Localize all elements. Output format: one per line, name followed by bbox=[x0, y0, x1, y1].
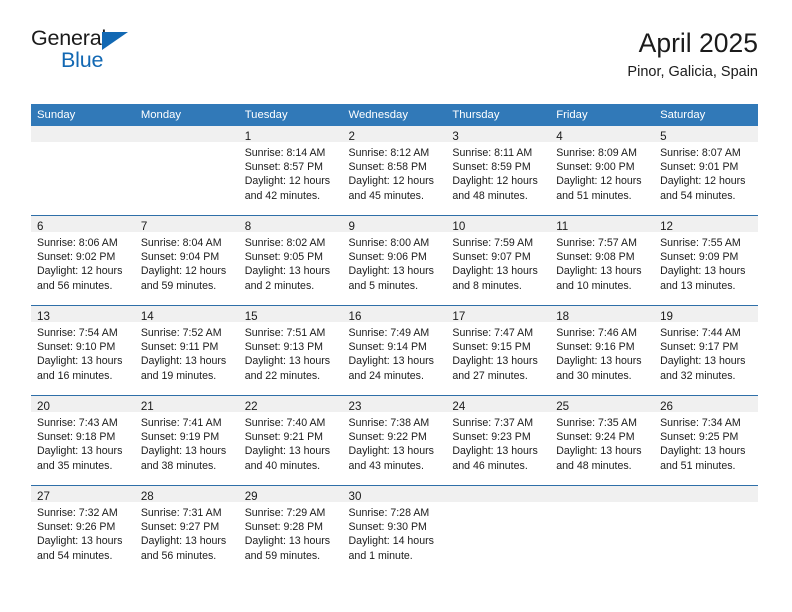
day-detail-line: and 45 minutes. bbox=[349, 189, 442, 203]
day-detail-line: Daylight: 12 hours bbox=[141, 264, 234, 278]
day-number-band: 17 bbox=[446, 306, 550, 322]
calendar-day-cell-empty bbox=[550, 486, 654, 576]
day-detail-line: and 32 minutes. bbox=[660, 369, 753, 383]
calendar-day-cell[interactable]: 8Sunrise: 8:02 AMSunset: 9:05 PMDaylight… bbox=[239, 216, 343, 306]
day-number-band: 23 bbox=[343, 396, 447, 412]
day-number: 9 bbox=[349, 220, 355, 233]
day-number: 22 bbox=[245, 400, 258, 413]
title-block: April 2025 Pinor, Galicia, Spain bbox=[627, 28, 758, 82]
day-detail-line: Sunrise: 7:44 AM bbox=[660, 326, 753, 340]
page-header: General Blue April 2025 Pinor, Galicia, … bbox=[31, 28, 758, 98]
day-detail-line: Sunrise: 8:14 AM bbox=[245, 146, 338, 160]
day-detail-line: and 35 minutes. bbox=[37, 459, 130, 473]
day-number: 20 bbox=[37, 400, 50, 413]
day-detail-block: Sunrise: 7:59 AMSunset: 9:07 PMDaylight:… bbox=[446, 232, 550, 293]
day-number-band: 26 bbox=[654, 396, 758, 412]
day-detail-line: and 56 minutes. bbox=[141, 549, 234, 563]
day-number: 19 bbox=[660, 310, 673, 323]
day-detail-line: and 51 minutes. bbox=[556, 189, 649, 203]
day-detail-line: Sunrise: 8:09 AM bbox=[556, 146, 649, 160]
day-detail-line: Sunset: 9:00 PM bbox=[556, 160, 649, 174]
calendar-day-cell-empty bbox=[31, 126, 135, 216]
day-detail-line: Daylight: 13 hours bbox=[556, 264, 649, 278]
day-number-band: 28 bbox=[135, 486, 239, 502]
day-number-band: 4 bbox=[550, 126, 654, 142]
day-detail-line: Sunset: 9:07 PM bbox=[452, 250, 545, 264]
day-number-band: 11 bbox=[550, 216, 654, 232]
day-detail-line: and 59 minutes. bbox=[245, 549, 338, 563]
day-number: 17 bbox=[452, 310, 465, 323]
calendar-day-cell[interactable]: 20Sunrise: 7:43 AMSunset: 9:18 PMDayligh… bbox=[31, 396, 135, 486]
day-detail-line: Sunset: 8:57 PM bbox=[245, 160, 338, 174]
day-detail-line: and 56 minutes. bbox=[37, 279, 130, 293]
day-detail-line: Sunset: 9:17 PM bbox=[660, 340, 753, 354]
day-detail-line: Daylight: 13 hours bbox=[245, 264, 338, 278]
calendar-week-row: 6Sunrise: 8:06 AMSunset: 9:02 PMDaylight… bbox=[31, 216, 758, 306]
day-number-band: 8 bbox=[239, 216, 343, 232]
calendar-header-row: SundayMondayTuesdayWednesdayThursdayFrid… bbox=[31, 104, 758, 126]
day-detail-line: Daylight: 13 hours bbox=[556, 354, 649, 368]
page-subtitle-location: Pinor, Galicia, Spain bbox=[627, 64, 758, 81]
day-number-band: 20 bbox=[31, 396, 135, 412]
day-detail-line: Daylight: 13 hours bbox=[452, 264, 545, 278]
day-number: 11 bbox=[556, 220, 568, 233]
day-detail-line: Sunset: 9:06 PM bbox=[349, 250, 442, 264]
day-detail-line: and 5 minutes. bbox=[349, 279, 442, 293]
day-detail-line: Sunset: 9:04 PM bbox=[141, 250, 234, 264]
day-detail-block: Sunrise: 8:07 AMSunset: 9:01 PMDaylight:… bbox=[654, 142, 758, 203]
day-detail-line: and 43 minutes. bbox=[349, 459, 442, 473]
page-title: April 2025 bbox=[627, 28, 758, 59]
day-number-band: 14 bbox=[135, 306, 239, 322]
day-detail-line: Sunrise: 7:41 AM bbox=[141, 416, 234, 430]
day-detail-line: and 10 minutes. bbox=[556, 279, 649, 293]
calendar-day-cell[interactable]: 12Sunrise: 7:55 AMSunset: 9:09 PMDayligh… bbox=[654, 216, 758, 306]
day-number-band bbox=[446, 486, 550, 502]
day-number: 16 bbox=[349, 310, 362, 323]
day-number-band: 27 bbox=[31, 486, 135, 502]
day-detail-block: Sunrise: 7:31 AMSunset: 9:27 PMDaylight:… bbox=[135, 502, 239, 563]
day-detail-line: Sunset: 9:14 PM bbox=[349, 340, 442, 354]
day-detail-block: Sunrise: 7:54 AMSunset: 9:10 PMDaylight:… bbox=[31, 322, 135, 383]
weekday-header-sunday: Sunday bbox=[31, 104, 135, 126]
day-detail-line: Daylight: 13 hours bbox=[37, 444, 130, 458]
day-detail-block: Sunrise: 7:35 AMSunset: 9:24 PMDaylight:… bbox=[550, 412, 654, 473]
day-detail-line: Sunrise: 8:12 AM bbox=[349, 146, 442, 160]
calendar-week-row: 1Sunrise: 8:14 AMSunset: 8:57 PMDaylight… bbox=[31, 126, 758, 216]
weekday-header-wednesday: Wednesday bbox=[343, 104, 447, 126]
day-detail-line: and 48 minutes. bbox=[452, 189, 545, 203]
day-detail-block: Sunrise: 8:14 AMSunset: 8:57 PMDaylight:… bbox=[239, 142, 343, 203]
day-detail-line: Sunrise: 8:04 AM bbox=[141, 236, 234, 250]
general-blue-logo[interactable]: General Blue bbox=[31, 28, 231, 84]
day-detail-line: Sunrise: 7:37 AM bbox=[452, 416, 545, 430]
day-number: 30 bbox=[349, 490, 362, 503]
day-detail-block: Sunrise: 8:06 AMSunset: 9:02 PMDaylight:… bbox=[31, 232, 135, 293]
day-number: 7 bbox=[141, 220, 147, 233]
day-detail-line: Sunrise: 7:29 AM bbox=[245, 506, 338, 520]
day-detail-line: and 8 minutes. bbox=[452, 279, 545, 293]
day-detail-block: Sunrise: 8:04 AMSunset: 9:04 PMDaylight:… bbox=[135, 232, 239, 293]
day-detail-block: Sunrise: 7:46 AMSunset: 9:16 PMDaylight:… bbox=[550, 322, 654, 383]
day-detail-block: Sunrise: 7:57 AMSunset: 9:08 PMDaylight:… bbox=[550, 232, 654, 293]
day-detail-line: Sunrise: 8:11 AM bbox=[452, 146, 545, 160]
day-detail-block: Sunrise: 7:55 AMSunset: 9:09 PMDaylight:… bbox=[654, 232, 758, 293]
day-detail-line: Daylight: 13 hours bbox=[245, 444, 338, 458]
day-number: 27 bbox=[37, 490, 50, 503]
day-detail-line: Sunset: 9:18 PM bbox=[37, 430, 130, 444]
calendar-day-cell[interactable]: 27Sunrise: 7:32 AMSunset: 9:26 PMDayligh… bbox=[31, 486, 135, 576]
day-detail-line: Sunset: 9:08 PM bbox=[556, 250, 649, 264]
day-detail-line: and 19 minutes. bbox=[141, 369, 234, 383]
calendar-day-cell-empty bbox=[135, 126, 239, 216]
day-number-band: 10 bbox=[446, 216, 550, 232]
calendar-day-cell[interactable]: 5Sunrise: 8:07 AMSunset: 9:01 PMDaylight… bbox=[654, 126, 758, 216]
day-detail-line: and 51 minutes. bbox=[660, 459, 753, 473]
calendar-day-cell[interactable]: 2Sunrise: 8:12 AMSunset: 8:58 PMDaylight… bbox=[343, 126, 447, 216]
day-number: 1 bbox=[245, 130, 251, 143]
day-detail-block: Sunrise: 7:32 AMSunset: 9:26 PMDaylight:… bbox=[31, 502, 135, 563]
day-number: 4 bbox=[556, 130, 562, 143]
calendar-day-cell-empty bbox=[654, 486, 758, 576]
day-detail-line: and 54 minutes. bbox=[37, 549, 130, 563]
day-number: 28 bbox=[141, 490, 154, 503]
day-detail-line: and 54 minutes. bbox=[660, 189, 753, 203]
day-number-band: 12 bbox=[654, 216, 758, 232]
calendar-day-cell[interactable]: 15Sunrise: 7:51 AMSunset: 9:13 PMDayligh… bbox=[239, 306, 343, 396]
day-detail-line: Sunset: 9:23 PM bbox=[452, 430, 545, 444]
day-number-band: 1 bbox=[239, 126, 343, 142]
day-detail-line: Sunset: 9:22 PM bbox=[349, 430, 442, 444]
day-detail-line: Sunset: 9:28 PM bbox=[245, 520, 338, 534]
calendar-day-cell[interactable]: 23Sunrise: 7:38 AMSunset: 9:22 PMDayligh… bbox=[343, 396, 447, 486]
day-detail-line: Sunrise: 8:07 AM bbox=[660, 146, 753, 160]
day-detail-line: Sunrise: 7:40 AM bbox=[245, 416, 338, 430]
day-number: 15 bbox=[245, 310, 258, 323]
day-detail-line: Daylight: 13 hours bbox=[660, 264, 753, 278]
day-detail-block: Sunrise: 8:12 AMSunset: 8:58 PMDaylight:… bbox=[343, 142, 447, 203]
calendar-day-cell[interactable]: 14Sunrise: 7:52 AMSunset: 9:11 PMDayligh… bbox=[135, 306, 239, 396]
day-detail-block: Sunrise: 7:44 AMSunset: 9:17 PMDaylight:… bbox=[654, 322, 758, 383]
day-detail-line: Sunset: 8:59 PM bbox=[452, 160, 545, 174]
day-detail-line: Sunrise: 8:06 AM bbox=[37, 236, 130, 250]
day-detail-line: Sunrise: 7:55 AM bbox=[660, 236, 753, 250]
day-detail-line: Daylight: 13 hours bbox=[37, 534, 130, 548]
day-detail-line: Sunrise: 7:51 AM bbox=[245, 326, 338, 340]
day-number: 14 bbox=[141, 310, 154, 323]
day-detail-block: Sunrise: 7:47 AMSunset: 9:15 PMDaylight:… bbox=[446, 322, 550, 383]
day-number-band: 6 bbox=[31, 216, 135, 232]
day-detail-line: and 46 minutes. bbox=[452, 459, 545, 473]
day-detail-line: and 30 minutes. bbox=[556, 369, 649, 383]
day-detail-block: Sunrise: 7:37 AMSunset: 9:23 PMDaylight:… bbox=[446, 412, 550, 473]
day-detail-block: Sunrise: 8:00 AMSunset: 9:06 PMDaylight:… bbox=[343, 232, 447, 293]
calendar-page: General Blue April 2025 Pinor, Galicia, … bbox=[0, 0, 792, 612]
day-detail-line: Sunrise: 7:52 AM bbox=[141, 326, 234, 340]
day-number: 10 bbox=[452, 220, 465, 233]
day-number-band bbox=[654, 486, 758, 502]
day-detail-line: Daylight: 13 hours bbox=[245, 354, 338, 368]
weekday-header-monday: Monday bbox=[135, 104, 239, 126]
day-detail-line: Daylight: 13 hours bbox=[141, 354, 234, 368]
day-detail-line: Sunrise: 7:31 AM bbox=[141, 506, 234, 520]
day-detail-line: and 48 minutes. bbox=[556, 459, 649, 473]
day-detail-line: Daylight: 13 hours bbox=[349, 444, 442, 458]
day-number-band bbox=[135, 126, 239, 142]
day-detail-line: Daylight: 13 hours bbox=[349, 354, 442, 368]
day-detail-line: and 40 minutes. bbox=[245, 459, 338, 473]
calendar-day-cell[interactable]: 16Sunrise: 7:49 AMSunset: 9:14 PMDayligh… bbox=[343, 306, 447, 396]
day-detail-line: Sunset: 8:58 PM bbox=[349, 160, 442, 174]
day-number: 3 bbox=[452, 130, 458, 143]
day-number-band: 24 bbox=[446, 396, 550, 412]
day-detail-line: Sunrise: 8:02 AM bbox=[245, 236, 338, 250]
day-detail-line: and 22 minutes. bbox=[245, 369, 338, 383]
day-detail-line: Daylight: 13 hours bbox=[245, 534, 338, 548]
day-number-band: 16 bbox=[343, 306, 447, 322]
day-number-band: 29 bbox=[239, 486, 343, 502]
day-detail-line: Sunset: 9:05 PM bbox=[245, 250, 338, 264]
calendar-day-cell[interactable]: 10Sunrise: 7:59 AMSunset: 9:07 PMDayligh… bbox=[446, 216, 550, 306]
day-detail-line: Daylight: 12 hours bbox=[349, 174, 442, 188]
calendar-day-cell[interactable]: 30Sunrise: 7:28 AMSunset: 9:30 PMDayligh… bbox=[343, 486, 447, 576]
day-detail-line: Sunset: 9:13 PM bbox=[245, 340, 338, 354]
day-detail-line: Daylight: 13 hours bbox=[141, 444, 234, 458]
calendar-body: 1Sunrise: 8:14 AMSunset: 8:57 PMDaylight… bbox=[31, 126, 758, 575]
day-detail-block: Sunrise: 8:02 AMSunset: 9:05 PMDaylight:… bbox=[239, 232, 343, 293]
day-detail-block: Sunrise: 8:11 AMSunset: 8:59 PMDaylight:… bbox=[446, 142, 550, 203]
day-number-band: 2 bbox=[343, 126, 447, 142]
logo-triangle-icon bbox=[102, 32, 128, 50]
day-detail-line: Sunrise: 7:59 AM bbox=[452, 236, 545, 250]
calendar-table: SundayMondayTuesdayWednesdayThursdayFrid… bbox=[31, 104, 758, 575]
day-number-band: 18 bbox=[550, 306, 654, 322]
day-detail-line: and 38 minutes. bbox=[141, 459, 234, 473]
day-detail-line: Daylight: 12 hours bbox=[556, 174, 649, 188]
day-detail-line: Sunrise: 7:32 AM bbox=[37, 506, 130, 520]
calendar-day-cell[interactable]: 28Sunrise: 7:31 AMSunset: 9:27 PMDayligh… bbox=[135, 486, 239, 576]
day-detail-line: and 16 minutes. bbox=[37, 369, 130, 383]
calendar-day-cell[interactable]: 25Sunrise: 7:35 AMSunset: 9:24 PMDayligh… bbox=[550, 396, 654, 486]
day-number: 23 bbox=[349, 400, 362, 413]
logo-text-general: General bbox=[31, 28, 106, 50]
day-detail-block: Sunrise: 7:51 AMSunset: 9:13 PMDaylight:… bbox=[239, 322, 343, 383]
calendar-day-cell[interactable]: 26Sunrise: 7:34 AMSunset: 9:25 PMDayligh… bbox=[654, 396, 758, 486]
day-detail-line: Sunset: 9:25 PM bbox=[660, 430, 753, 444]
calendar-day-cell[interactable]: 22Sunrise: 7:40 AMSunset: 9:21 PMDayligh… bbox=[239, 396, 343, 486]
weekday-header-tuesday: Tuesday bbox=[239, 104, 343, 126]
calendar-day-cell[interactable]: 29Sunrise: 7:29 AMSunset: 9:28 PMDayligh… bbox=[239, 486, 343, 576]
day-detail-line: Sunset: 9:01 PM bbox=[660, 160, 753, 174]
day-detail-line: Sunrise: 7:46 AM bbox=[556, 326, 649, 340]
day-detail-line: Sunset: 9:11 PM bbox=[141, 340, 234, 354]
day-detail-line: Daylight: 13 hours bbox=[37, 354, 130, 368]
day-number-band bbox=[550, 486, 654, 502]
logo-text-blue: Blue bbox=[61, 50, 103, 72]
weekday-header-thursday: Thursday bbox=[446, 104, 550, 126]
calendar-day-cell[interactable]: 13Sunrise: 7:54 AMSunset: 9:10 PMDayligh… bbox=[31, 306, 135, 396]
day-detail-line: Sunrise: 7:57 AM bbox=[556, 236, 649, 250]
day-number: 26 bbox=[660, 400, 673, 413]
calendar-day-cell[interactable]: 6Sunrise: 8:06 AMSunset: 9:02 PMDaylight… bbox=[31, 216, 135, 306]
day-detail-line: Daylight: 14 hours bbox=[349, 534, 442, 548]
calendar-week-row: 20Sunrise: 7:43 AMSunset: 9:18 PMDayligh… bbox=[31, 396, 758, 486]
day-detail-line: and 27 minutes. bbox=[452, 369, 545, 383]
day-detail-block: Sunrise: 7:28 AMSunset: 9:30 PMDaylight:… bbox=[343, 502, 447, 563]
day-number-band: 3 bbox=[446, 126, 550, 142]
weekday-header-saturday: Saturday bbox=[654, 104, 758, 126]
day-number-band: 7 bbox=[135, 216, 239, 232]
day-detail-line: Sunrise: 7:38 AM bbox=[349, 416, 442, 430]
day-detail-line: Daylight: 13 hours bbox=[556, 444, 649, 458]
day-number-band: 19 bbox=[654, 306, 758, 322]
day-detail-line: Sunrise: 7:43 AM bbox=[37, 416, 130, 430]
weekday-header-friday: Friday bbox=[550, 104, 654, 126]
calendar-day-cell[interactable]: 4Sunrise: 8:09 AMSunset: 9:00 PMDaylight… bbox=[550, 126, 654, 216]
day-detail-line: Daylight: 12 hours bbox=[452, 174, 545, 188]
day-number: 12 bbox=[660, 220, 673, 233]
day-detail-line: Sunset: 9:24 PM bbox=[556, 430, 649, 444]
day-number: 21 bbox=[141, 400, 154, 413]
day-detail-line: Sunrise: 7:28 AM bbox=[349, 506, 442, 520]
day-detail-line: Sunrise: 7:34 AM bbox=[660, 416, 753, 430]
calendar-day-cell[interactable]: 1Sunrise: 8:14 AMSunset: 8:57 PMDaylight… bbox=[239, 126, 343, 216]
day-detail-block: Sunrise: 7:43 AMSunset: 9:18 PMDaylight:… bbox=[31, 412, 135, 473]
day-number-band: 9 bbox=[343, 216, 447, 232]
calendar-day-cell[interactable]: 11Sunrise: 7:57 AMSunset: 9:08 PMDayligh… bbox=[550, 216, 654, 306]
day-detail-line: Sunset: 9:15 PM bbox=[452, 340, 545, 354]
day-detail-line: Sunrise: 8:00 AM bbox=[349, 236, 442, 250]
day-number-band: 13 bbox=[31, 306, 135, 322]
day-detail-line: and 24 minutes. bbox=[349, 369, 442, 383]
day-number: 25 bbox=[556, 400, 569, 413]
day-detail-line: Sunset: 9:21 PM bbox=[245, 430, 338, 444]
day-number: 24 bbox=[452, 400, 465, 413]
day-detail-block: Sunrise: 7:34 AMSunset: 9:25 PMDaylight:… bbox=[654, 412, 758, 473]
day-detail-block: Sunrise: 8:09 AMSunset: 9:00 PMDaylight:… bbox=[550, 142, 654, 203]
day-detail-line: Daylight: 13 hours bbox=[660, 354, 753, 368]
calendar-day-cell-empty bbox=[446, 486, 550, 576]
day-detail-block: Sunrise: 7:40 AMSunset: 9:21 PMDaylight:… bbox=[239, 412, 343, 473]
calendar-day-cell[interactable]: 9Sunrise: 8:00 AMSunset: 9:06 PMDaylight… bbox=[343, 216, 447, 306]
day-detail-line: Daylight: 13 hours bbox=[452, 354, 545, 368]
day-number: 6 bbox=[37, 220, 43, 233]
day-detail-line: Daylight: 12 hours bbox=[660, 174, 753, 188]
day-detail-block: Sunrise: 7:49 AMSunset: 9:14 PMDaylight:… bbox=[343, 322, 447, 383]
calendar-week-row: 27Sunrise: 7:32 AMSunset: 9:26 PMDayligh… bbox=[31, 486, 758, 576]
day-detail-line: Sunset: 9:09 PM bbox=[660, 250, 753, 264]
day-detail-line: Daylight: 13 hours bbox=[141, 534, 234, 548]
day-number: 13 bbox=[37, 310, 50, 323]
day-detail-line: Daylight: 12 hours bbox=[245, 174, 338, 188]
calendar-day-cell[interactable]: 24Sunrise: 7:37 AMSunset: 9:23 PMDayligh… bbox=[446, 396, 550, 486]
day-detail-block: Sunrise: 7:38 AMSunset: 9:22 PMDaylight:… bbox=[343, 412, 447, 473]
day-number: 2 bbox=[349, 130, 355, 143]
day-detail-line: Sunrise: 7:54 AM bbox=[37, 326, 130, 340]
day-detail-line: Daylight: 12 hours bbox=[37, 264, 130, 278]
day-number-band: 21 bbox=[135, 396, 239, 412]
calendar-day-cell[interactable]: 17Sunrise: 7:47 AMSunset: 9:15 PMDayligh… bbox=[446, 306, 550, 396]
day-detail-line: and 59 minutes. bbox=[141, 279, 234, 293]
day-detail-line: Sunset: 9:16 PM bbox=[556, 340, 649, 354]
calendar-day-cell[interactable]: 19Sunrise: 7:44 AMSunset: 9:17 PMDayligh… bbox=[654, 306, 758, 396]
day-detail-line: Sunrise: 7:49 AM bbox=[349, 326, 442, 340]
day-detail-line: Daylight: 13 hours bbox=[349, 264, 442, 278]
day-number-band: 15 bbox=[239, 306, 343, 322]
calendar-day-cell[interactable]: 21Sunrise: 7:41 AMSunset: 9:19 PMDayligh… bbox=[135, 396, 239, 486]
day-number: 29 bbox=[245, 490, 258, 503]
day-detail-line: Sunrise: 7:35 AM bbox=[556, 416, 649, 430]
day-detail-line: and 1 minute. bbox=[349, 549, 442, 563]
day-detail-line: Sunset: 9:26 PM bbox=[37, 520, 130, 534]
day-detail-line: and 13 minutes. bbox=[660, 279, 753, 293]
day-detail-line: and 2 minutes. bbox=[245, 279, 338, 293]
day-detail-line: Sunset: 9:30 PM bbox=[349, 520, 442, 534]
day-number: 18 bbox=[556, 310, 569, 323]
calendar-day-cell[interactable]: 7Sunrise: 8:04 AMSunset: 9:04 PMDaylight… bbox=[135, 216, 239, 306]
day-detail-line: Sunrise: 7:47 AM bbox=[452, 326, 545, 340]
day-detail-block: Sunrise: 7:52 AMSunset: 9:11 PMDaylight:… bbox=[135, 322, 239, 383]
day-detail-line: Daylight: 13 hours bbox=[660, 444, 753, 458]
calendar-week-row: 13Sunrise: 7:54 AMSunset: 9:10 PMDayligh… bbox=[31, 306, 758, 396]
day-number-band: 22 bbox=[239, 396, 343, 412]
day-number-band: 5 bbox=[654, 126, 758, 142]
day-number-band: 30 bbox=[343, 486, 447, 502]
day-detail-block: Sunrise: 7:41 AMSunset: 9:19 PMDaylight:… bbox=[135, 412, 239, 473]
day-detail-line: and 42 minutes. bbox=[245, 189, 338, 203]
day-detail-line: Sunset: 9:10 PM bbox=[37, 340, 130, 354]
day-number-band: 25 bbox=[550, 396, 654, 412]
day-detail-line: Sunset: 9:19 PM bbox=[141, 430, 234, 444]
day-number: 8 bbox=[245, 220, 251, 233]
day-detail-line: Sunset: 9:02 PM bbox=[37, 250, 130, 264]
day-number: 5 bbox=[660, 130, 666, 143]
day-detail-block: Sunrise: 7:29 AMSunset: 9:28 PMDaylight:… bbox=[239, 502, 343, 563]
day-number-band bbox=[31, 126, 135, 142]
calendar-day-cell[interactable]: 3Sunrise: 8:11 AMSunset: 8:59 PMDaylight… bbox=[446, 126, 550, 216]
day-detail-line: Sunset: 9:27 PM bbox=[141, 520, 234, 534]
calendar-day-cell[interactable]: 18Sunrise: 7:46 AMSunset: 9:16 PMDayligh… bbox=[550, 306, 654, 396]
day-detail-line: Daylight: 13 hours bbox=[452, 444, 545, 458]
